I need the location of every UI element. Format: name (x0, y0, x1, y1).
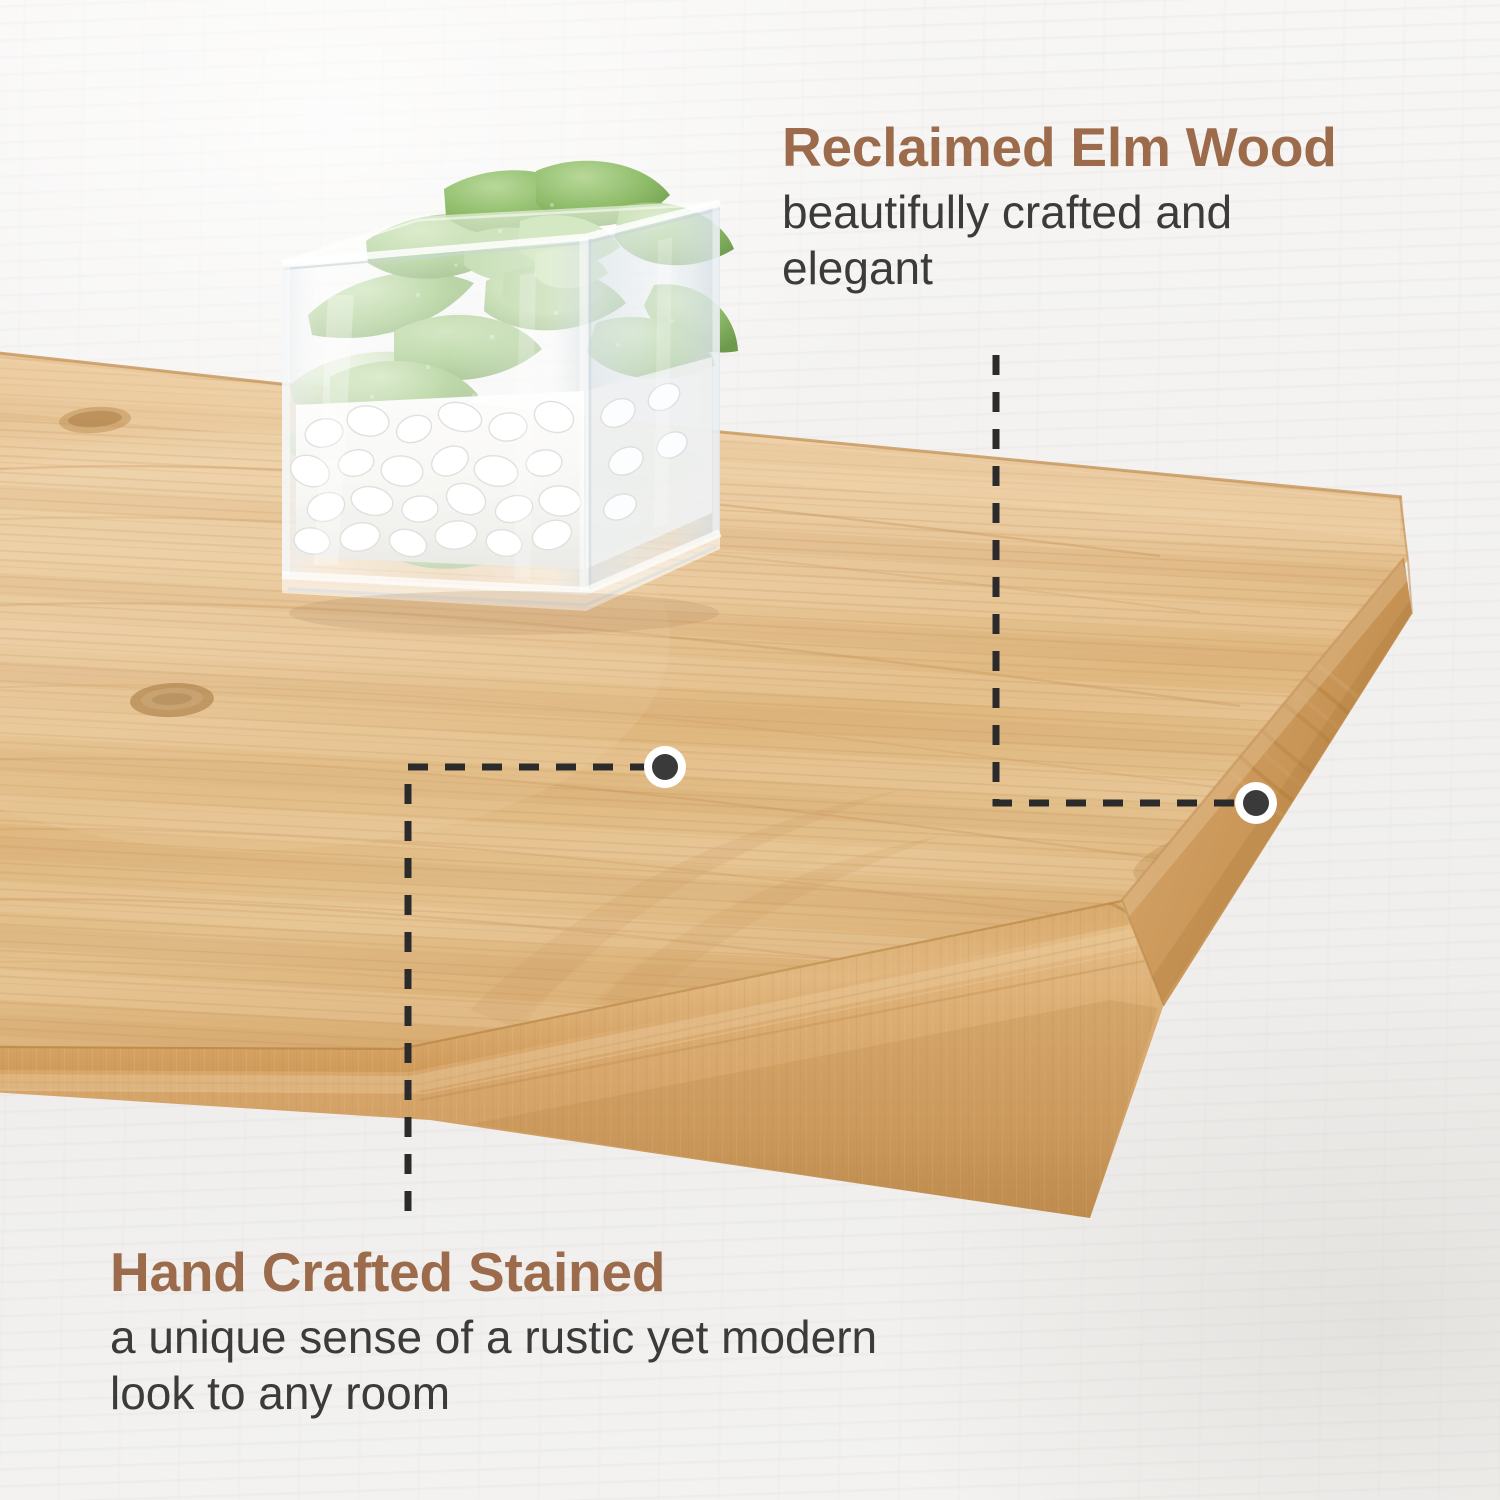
callout-dot-reclaimed-elm-wood (1235, 782, 1277, 824)
callout-title-reclaimed-elm-wood: Reclaimed Elm Wood (782, 118, 1482, 176)
callout-body-hand-crafted-stained: a unique sense of a rustic yet modern lo… (110, 1309, 900, 1421)
callout-reclaimed-elm-wood: Reclaimed Elm Wood beautifully crafted a… (782, 118, 1482, 297)
product-infographic: Reclaimed Elm Wood beautifully crafted a… (0, 0, 1500, 1500)
callout-hand-crafted-stained: Hand Crafted Stained a unique sense of a… (110, 1243, 940, 1422)
callout-dot-hand-crafted-stained (644, 746, 686, 788)
callout-body-reclaimed-elm-wood: beautifully crafted and elegant (782, 184, 1382, 296)
callout-title-hand-crafted-stained: Hand Crafted Stained (110, 1243, 940, 1301)
leader-line-hand-crafted-stained (408, 767, 650, 1218)
leader-line-reclaimed-elm-wood (996, 355, 1240, 803)
